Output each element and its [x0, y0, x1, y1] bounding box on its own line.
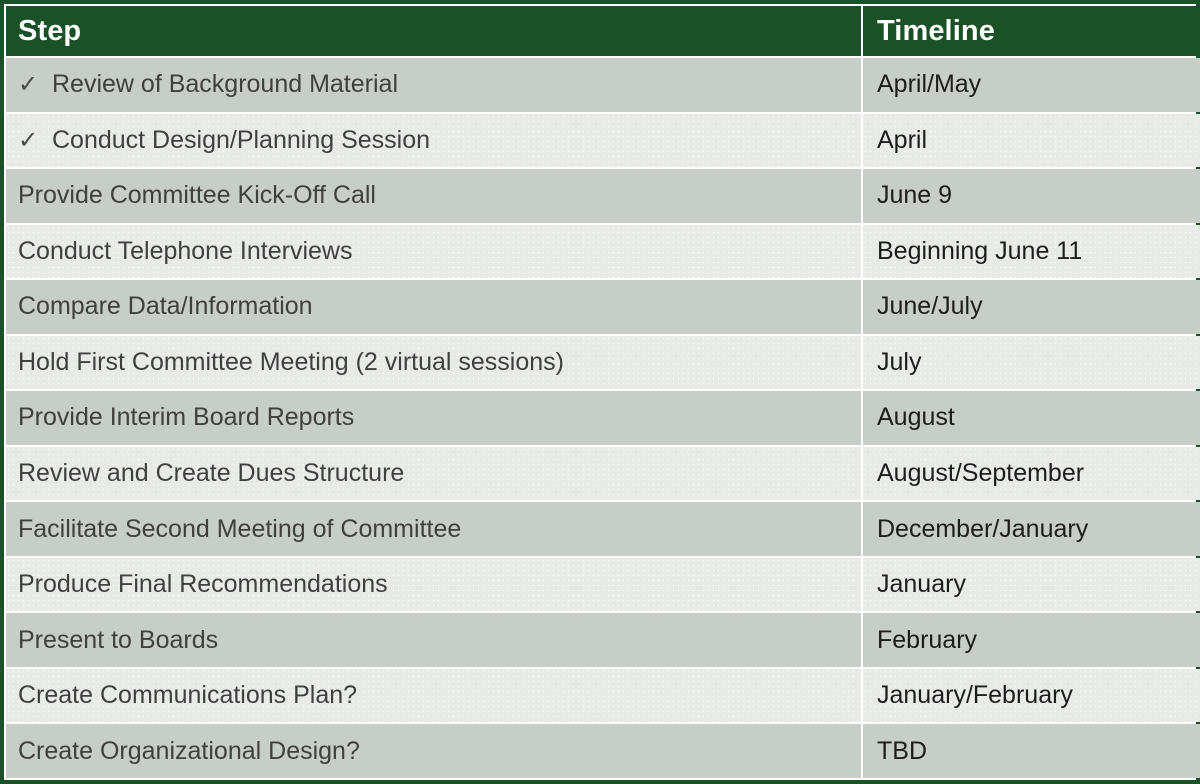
cell-step: Provide Committee Kick-Off Call	[6, 169, 861, 223]
step-label: Produce Final Recommendations	[18, 570, 388, 598]
timeline-label: December/January	[877, 515, 1088, 543]
cell-timeline: December/January	[863, 502, 1200, 556]
table-body: ✓Review of Background MaterialApril/May✓…	[6, 58, 1200, 778]
checkmark-icon: ✓	[18, 73, 52, 97]
table-header: Step Timeline	[6, 6, 1200, 56]
step-label: Conduct Design/Planning Session	[52, 126, 430, 154]
cell-timeline: January/February	[863, 669, 1200, 723]
step-label: Create Communications Plan?	[18, 681, 357, 709]
cell-step: Present to Boards	[6, 613, 861, 667]
cell-step: Hold First Committee Meeting (2 virtual …	[6, 336, 861, 390]
cell-step: Facilitate Second Meeting of Committee	[6, 502, 861, 556]
timeline-label: February	[877, 626, 977, 654]
checkmark-icon: ✓	[18, 129, 52, 153]
table-row: Compare Data/InformationJune/July	[6, 280, 1200, 334]
project-timeline-table: Step Timeline ✓Review of Background Mate…	[4, 4, 1200, 780]
step-label: Hold First Committee Meeting (2 virtual …	[18, 348, 564, 376]
cell-step: ✓Conduct Design/Planning Session	[6, 114, 861, 168]
cell-step: Review and Create Dues Structure	[6, 447, 861, 501]
cell-timeline: June 9	[863, 169, 1200, 223]
timeline-label: TBD	[877, 737, 927, 765]
column-header-timeline: Timeline	[863, 6, 1200, 56]
table-row: Produce Final RecommendationsJanuary	[6, 558, 1200, 612]
cell-timeline: TBD	[863, 724, 1200, 778]
timeline-label: April	[877, 126, 927, 154]
table-row: Present to BoardsFebruary	[6, 613, 1200, 667]
table-row: Review and Create Dues StructureAugust/S…	[6, 447, 1200, 501]
table-row: Facilitate Second Meeting of CommitteeDe…	[6, 502, 1200, 556]
cell-step: ✓Review of Background Material	[6, 58, 861, 112]
cell-step: Create Organizational Design?	[6, 724, 861, 778]
timeline-label: January/February	[877, 681, 1073, 709]
cell-timeline: July	[863, 336, 1200, 390]
table-row: Provide Committee Kick-Off CallJune 9	[6, 169, 1200, 223]
step-label: Provide Interim Board Reports	[18, 403, 354, 431]
cell-timeline: August/September	[863, 447, 1200, 501]
table-row: ✓Review of Background MaterialApril/May	[6, 58, 1200, 112]
cell-timeline: April/May	[863, 58, 1200, 112]
timeline-label: June/July	[877, 292, 983, 320]
step-label: Conduct Telephone Interviews	[18, 237, 352, 265]
step-label: Provide Committee Kick-Off Call	[18, 181, 376, 209]
timeline-table-frame: Step Timeline ✓Review of Background Mate…	[0, 0, 1200, 784]
timeline-label: Beginning June 11	[877, 237, 1082, 265]
header-row: Step Timeline	[6, 6, 1200, 56]
timeline-label: June 9	[877, 181, 952, 209]
table-row: Create Communications Plan?January/Febru…	[6, 669, 1200, 723]
cell-step: Compare Data/Information	[6, 280, 861, 334]
cell-step: Provide Interim Board Reports	[6, 391, 861, 445]
step-label: Compare Data/Information	[18, 292, 313, 320]
table-row: Conduct Telephone InterviewsBeginning Ju…	[6, 225, 1200, 279]
timeline-label: August	[877, 403, 955, 431]
table-row: Provide Interim Board ReportsAugust	[6, 391, 1200, 445]
cell-step: Create Communications Plan?	[6, 669, 861, 723]
timeline-label: July	[877, 348, 921, 376]
step-label: Create Organizational Design?	[18, 737, 360, 765]
cell-timeline: April	[863, 114, 1200, 168]
cell-timeline: February	[863, 613, 1200, 667]
cell-step: Produce Final Recommendations	[6, 558, 861, 612]
cell-step: Conduct Telephone Interviews	[6, 225, 861, 279]
step-label: Facilitate Second Meeting of Committee	[18, 515, 461, 543]
step-label: Present to Boards	[18, 626, 218, 654]
cell-timeline: January	[863, 558, 1200, 612]
timeline-label: August/September	[877, 459, 1084, 487]
column-header-step: Step	[6, 6, 861, 56]
table-row: Hold First Committee Meeting (2 virtual …	[6, 336, 1200, 390]
table-row: ✓Conduct Design/Planning SessionApril	[6, 114, 1200, 168]
timeline-label: April/May	[877, 70, 981, 98]
cell-timeline: August	[863, 391, 1200, 445]
step-label: Review and Create Dues Structure	[18, 459, 404, 487]
cell-timeline: Beginning June 11	[863, 225, 1200, 279]
step-label: Review of Background Material	[52, 70, 398, 98]
timeline-label: January	[877, 570, 966, 598]
table-row: Create Organizational Design?TBD	[6, 724, 1200, 778]
cell-timeline: June/July	[863, 280, 1200, 334]
